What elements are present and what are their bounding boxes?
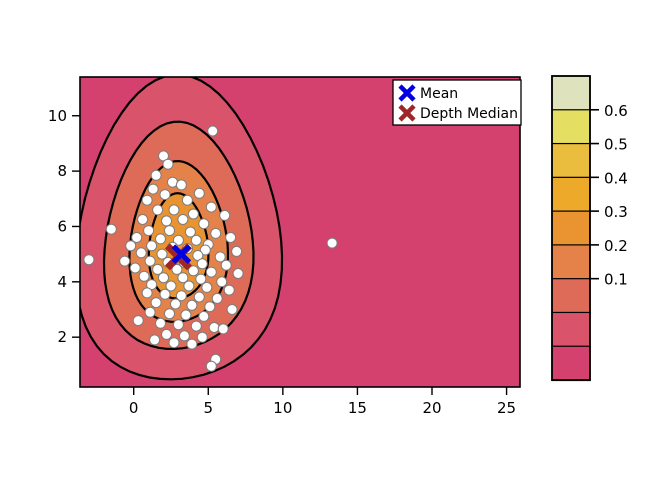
data-point [191, 321, 201, 331]
data-point [139, 271, 149, 281]
data-point [205, 302, 215, 312]
colorbar-tick-label: 0.2 [604, 237, 628, 255]
data-point [199, 219, 209, 229]
colorbar-tick-label: 0.1 [604, 271, 628, 289]
colorbar-band-4 [552, 211, 590, 245]
data-point [218, 324, 228, 334]
data-point [221, 260, 231, 270]
data-point [153, 205, 163, 215]
x-tick-label: 0 [129, 399, 139, 417]
data-point [176, 180, 186, 190]
x-tick-label: 20 [422, 399, 441, 417]
data-point [194, 188, 204, 198]
data-point [233, 269, 243, 279]
data-point [178, 215, 188, 225]
colorbar-tick-label: 0.5 [604, 136, 628, 154]
data-point [206, 267, 216, 277]
data-point [169, 205, 179, 215]
x-axis: 0510152025 [129, 387, 516, 417]
data-point [209, 323, 219, 333]
data-point [142, 288, 152, 298]
data-point [147, 241, 157, 251]
data-point [181, 310, 191, 320]
data-point [156, 318, 166, 328]
legend: MeanDepth Median [393, 80, 521, 125]
colorbar-band-0 [552, 76, 590, 110]
data-point [202, 282, 212, 292]
y-tick-label: 10 [48, 107, 67, 125]
y-tick-label: 4 [57, 273, 67, 291]
data-point [160, 190, 170, 200]
data-point [173, 320, 183, 330]
data-point [106, 224, 116, 234]
data-point [194, 292, 204, 302]
depth-contour-plot-figure: 0510152025246810MeanDepth Median0.60.50.… [0, 0, 672, 480]
data-point [145, 307, 155, 317]
data-point [165, 309, 175, 319]
colorbar-band-3 [552, 177, 590, 211]
data-point [165, 226, 175, 236]
data-point [206, 361, 216, 371]
data-point [182, 195, 192, 205]
colorbar-band-6 [552, 279, 590, 313]
data-point [187, 300, 197, 310]
data-point [226, 233, 236, 243]
x-tick-label: 5 [203, 399, 213, 417]
data-point [151, 298, 161, 308]
data-point [130, 263, 140, 273]
y-tick-label: 8 [57, 162, 67, 180]
data-point [179, 331, 189, 341]
colorbar-tick-label: 0.6 [604, 102, 628, 120]
data-point [150, 335, 160, 345]
colorbar-band-5 [552, 245, 590, 279]
data-point [171, 299, 181, 309]
data-point [159, 273, 169, 283]
colorbar-tick-label: 0.4 [604, 169, 628, 187]
data-point [138, 215, 148, 225]
data-point [156, 234, 166, 244]
data-point [184, 281, 194, 291]
data-point [162, 216, 172, 226]
data-point [148, 184, 158, 194]
x-tick-label: 10 [273, 399, 292, 417]
data-point [126, 241, 136, 251]
data-point [120, 256, 130, 266]
data-point [208, 126, 218, 136]
data-point [187, 339, 197, 349]
data-point [169, 338, 179, 348]
data-point [162, 329, 172, 339]
data-point [227, 305, 237, 315]
data-point [163, 159, 173, 169]
data-point [188, 209, 198, 219]
data-point [220, 210, 230, 220]
x-tick-label: 15 [348, 399, 367, 417]
colorbar-band-7 [552, 312, 590, 346]
data-point [224, 285, 234, 295]
data-point [217, 277, 227, 287]
colorbar-band-2 [552, 144, 590, 178]
data-point [145, 256, 155, 266]
y-tick-label: 6 [57, 217, 67, 235]
y-tick-label: 2 [57, 328, 67, 346]
data-point [206, 202, 216, 212]
colorbar: 0.60.50.40.30.20.1 [552, 76, 628, 381]
y-axis: 246810 [48, 107, 80, 346]
data-point [142, 195, 152, 205]
data-point [327, 238, 337, 248]
data-point [212, 293, 222, 303]
data-point [160, 289, 170, 299]
data-point [84, 255, 94, 265]
data-point [191, 235, 201, 245]
x-tick-label: 25 [497, 399, 516, 417]
data-point [199, 311, 209, 321]
data-point [133, 316, 143, 326]
figure-canvas: 0510152025246810MeanDepth Median0.60.50.… [0, 0, 672, 480]
data-point [136, 248, 146, 258]
colorbar-tick-label: 0.3 [604, 203, 628, 221]
data-point [197, 332, 207, 342]
colorbar-band-8 [552, 346, 590, 380]
colorbar-band-1 [552, 110, 590, 144]
data-point [232, 246, 242, 256]
data-point [144, 226, 154, 236]
legend-label-0: Mean [420, 86, 458, 102]
legend-label-1: Depth Median [420, 106, 518, 122]
data-point [197, 259, 207, 269]
data-point [151, 170, 161, 180]
data-point [211, 228, 221, 238]
